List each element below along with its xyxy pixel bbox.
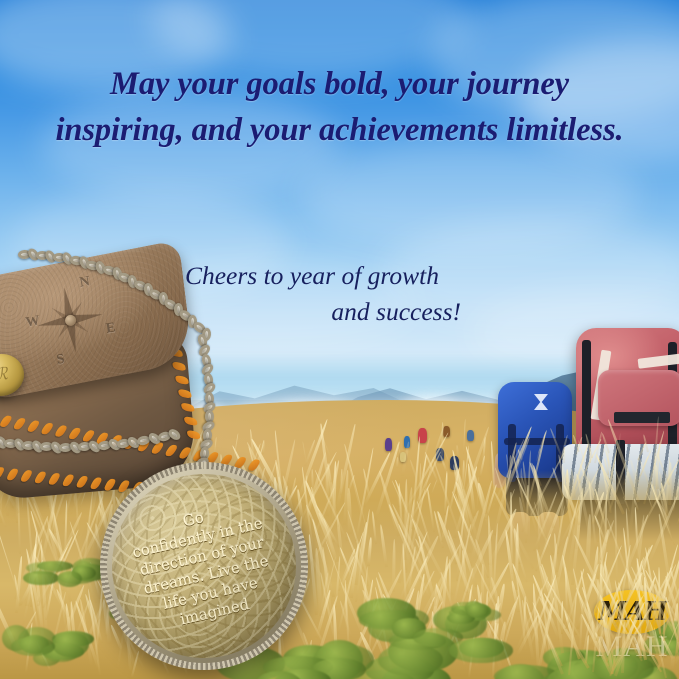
pack-brand-tag xyxy=(614,412,670,423)
stitch xyxy=(26,420,41,432)
subline-line-1: Cheers to year of growth xyxy=(0,258,439,294)
engraved-compass-medallion: Go confidently in the direction of your … xyxy=(100,462,308,670)
grass-blade xyxy=(589,446,591,463)
headline-line-1: May your goals bold, your journey xyxy=(12,62,667,108)
stitch xyxy=(12,418,27,430)
stitch xyxy=(19,470,33,482)
stitch xyxy=(164,444,179,456)
medallion-face: Go confidently in the direction of your … xyxy=(112,474,296,658)
compass-label-s: S xyxy=(56,352,66,369)
shrub-clump xyxy=(449,638,513,663)
pack-strap xyxy=(504,438,570,445)
greeting-card-image: NESW ℛ Go confidently in the direction o… xyxy=(0,0,679,679)
stitch xyxy=(61,474,75,486)
stitch xyxy=(181,402,195,412)
stitch xyxy=(0,467,6,479)
stitch xyxy=(175,375,189,385)
distant-hiker xyxy=(385,438,392,451)
stitch xyxy=(172,361,186,371)
stitch xyxy=(5,468,19,480)
grass-blade xyxy=(392,539,396,592)
distant-hiker xyxy=(467,430,474,441)
shrub-clump xyxy=(37,561,73,572)
stitch xyxy=(33,471,47,483)
stitch xyxy=(47,473,61,485)
stitch xyxy=(184,416,198,426)
stitch xyxy=(75,476,89,488)
stitch xyxy=(178,389,192,399)
shrub-clump xyxy=(52,632,89,657)
shrub-clump xyxy=(11,637,55,656)
headline-line-2: inspiring, and your achievements limitle… xyxy=(12,108,667,154)
stitch xyxy=(0,415,13,427)
stitch xyxy=(67,427,82,439)
stitch xyxy=(186,430,200,440)
stitch xyxy=(178,447,193,459)
stitch xyxy=(54,425,69,437)
stitch xyxy=(40,422,55,434)
headline-text: May your goals bold, your journey inspir… xyxy=(0,62,679,153)
subline-line-2: and success! xyxy=(0,294,461,330)
subline-text: Cheers to year of growth and success! xyxy=(0,258,679,330)
